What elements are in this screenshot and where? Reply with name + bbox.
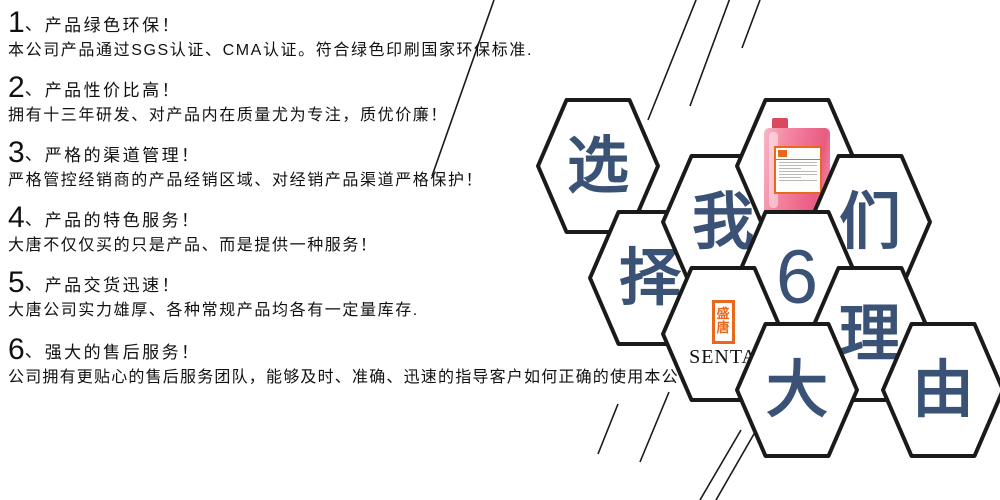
reason-number: 5 xyxy=(8,268,25,298)
reason-body: 拥有十三年研发、对产品内在质量尤为专注，质优价廉！ xyxy=(8,106,648,126)
jerrycan-label-rule xyxy=(779,177,801,178)
reason-body: 大唐不仅仅买的只是产品、而是提供一种服务！ xyxy=(8,236,648,256)
reason-item: 1 、 产品绿色环保！ 本公司产品通过SGS认证、CMA认证。符合绿色印刷国家环… xyxy=(8,8,648,61)
reason-separator: 、 xyxy=(25,342,43,360)
reason-number: 2 xyxy=(8,73,25,103)
jerrycan-label-chip xyxy=(778,150,787,157)
hexagon-outline xyxy=(734,320,860,460)
hex-label: 理 xyxy=(807,264,933,404)
jerrycan-cap xyxy=(772,118,788,131)
reason-heading: 1 、 产品绿色环保！ xyxy=(8,8,648,38)
jerrycan-label-rule xyxy=(779,168,801,169)
reason-separator: 、 xyxy=(25,15,43,33)
jerrycan-icon: pink-liquid-jerrycan xyxy=(764,118,830,214)
reason-item: 5 、 产品交货迅速！ 大唐公司实力雄厚、各种常规产品均各有一定量库存. xyxy=(8,268,648,321)
hex-cell-you: 由 xyxy=(880,320,1000,460)
reason-separator: 、 xyxy=(25,80,43,98)
reason-title: 产品交货迅速！ xyxy=(45,277,182,294)
reason-title: 严格的渠道管理！ xyxy=(45,147,201,164)
reason-number: 1 xyxy=(8,8,25,38)
reason-title: 产品绿色环保！ xyxy=(45,17,182,34)
reason-heading: 3 、 严格的渠道管理！ xyxy=(8,138,648,168)
reason-heading: 5 、 产品交货迅速！ xyxy=(8,268,648,298)
reason-title: 产品性价比高！ xyxy=(45,82,182,99)
reason-body: 严格管控经销商的产品经销区域、对经销产品渠道严格保护！ xyxy=(8,171,648,191)
jerrycan-label-rule xyxy=(779,180,817,181)
hex-cell-da: 大 xyxy=(734,320,860,460)
hex-cell-product-photo: pink-liquid-jerrycan xyxy=(734,96,860,236)
reason-title: 强大的售后服务！ xyxy=(45,344,201,361)
reason-heading: 6 、 强大的售后服务！ xyxy=(8,335,648,365)
reason-number: 6 xyxy=(8,335,25,365)
reason-separator: 、 xyxy=(25,210,43,228)
jerrycan-label xyxy=(774,146,822,194)
product-alt-text: pink-liquid-jerrycan xyxy=(764,118,765,119)
reason-separator: 、 xyxy=(25,275,43,293)
hexagon-outline xyxy=(807,264,933,404)
jerrycan-highlight xyxy=(769,132,778,208)
jerrycan-label-rule xyxy=(779,165,817,166)
reason-item: 4 、 产品的特色服务！ 大唐不仅仅买的只是产品、而是提供一种服务！ xyxy=(8,203,648,256)
hex-label: 我 xyxy=(660,152,786,292)
reason-heading: 2 、 产品性价比高！ xyxy=(8,73,648,103)
reason-body: 大唐公司实力雄厚、各种常规产品均各有一定量库存. xyxy=(8,301,648,321)
brand-name: SENTA xyxy=(689,346,757,369)
hex-label: 大 xyxy=(734,320,860,460)
seal-char-tang: 唐 xyxy=(716,322,729,336)
reason-body: 公司拥有更贴心的售后服务团队，能够及时、准确、迅速的指导客户如何正确的使用本公司… xyxy=(8,368,648,388)
hexagon-outline xyxy=(807,152,933,292)
jerrycan-label-rule xyxy=(779,174,817,175)
hex-cell-li: 理 xyxy=(807,264,933,404)
reason-heading: 4 、 产品的特色服务！ xyxy=(8,203,648,233)
hex-cell-wo: 我 xyxy=(660,152,786,292)
reason-list: 1 、 产品绿色环保！ 本公司产品通过SGS认证、CMA认证。符合绿色印刷国家环… xyxy=(8,6,648,394)
reason-separator: 、 xyxy=(25,145,43,163)
reason-item: 3 、 严格的渠道管理！ 严格管控经销商的产品经销区域、对经销产品渠道严格保护！ xyxy=(8,138,648,191)
jerrycan-body xyxy=(764,128,830,214)
hexagon-outline xyxy=(660,152,786,292)
product-image: pink-liquid-jerrycan xyxy=(734,96,860,236)
reason-item: 2 、 产品性价比高！ 拥有十三年研发、对产品内在质量尤为专注，质优价廉！ xyxy=(8,73,648,126)
hex-label: 由 xyxy=(880,320,1000,460)
jerrycan-label-rule xyxy=(779,171,817,172)
hexagon-outline xyxy=(734,208,860,348)
hex-cell-men: 们 xyxy=(807,152,933,292)
jerrycan-label-header xyxy=(776,148,820,160)
hexagon-outline xyxy=(734,96,860,236)
promo-banner: 1 、 产品绿色环保！ 本公司产品通过SGS认证、CMA认证。符合绿色印刷国家环… xyxy=(0,0,1000,500)
reason-number: 4 xyxy=(8,203,25,233)
seal-stamp-icon: 盛 唐 xyxy=(712,300,735,344)
jerrycan-label-rule xyxy=(779,162,817,163)
reason-title: 产品的特色服务！ xyxy=(45,212,201,229)
hexagon-outline xyxy=(880,320,1000,460)
hex-label: 们 xyxy=(807,152,933,292)
hex-cell-six: 6 xyxy=(734,208,860,348)
seal-char-sheng: 盛 xyxy=(716,308,729,322)
hex-label: 6 xyxy=(734,208,860,348)
reason-body: 本公司产品通过SGS认证、CMA认证。符合绿色印刷国家环保标准. xyxy=(8,41,648,61)
reason-number: 3 xyxy=(8,138,25,168)
reason-item: 6 、 强大的售后服务！ 公司拥有更贴心的售后服务团队，能够及时、准确、迅速的指… xyxy=(8,335,648,388)
